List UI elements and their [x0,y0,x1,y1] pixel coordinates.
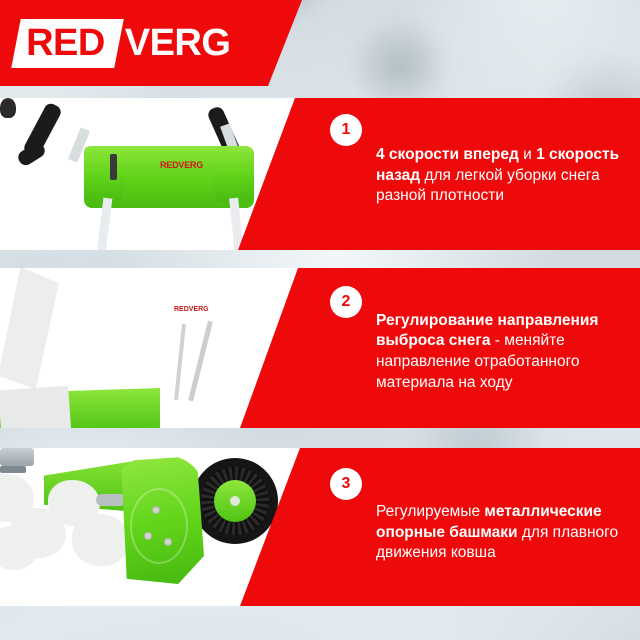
promo-banner: RED VERG REDVERG 1 [0,0,640,640]
logo-text-verg: VERG [125,24,231,63]
feature-mid-1: и [519,146,536,163]
feature-badge-3: 3 [330,468,362,500]
feature-description-1: 4 скорости вперед и 1 скорость назад для… [376,145,630,207]
wheel-hub-cap [230,496,240,506]
auger-blade [72,514,130,566]
side-bolt [144,532,152,540]
feature-badge-2: 2 [330,286,362,318]
side-bolt [164,538,172,546]
left-lever-icon [16,140,48,168]
feature-badge-1: 1 [330,114,362,146]
logo-text-red: RED [26,24,105,62]
shift-switch-icon [110,154,117,180]
chute-base [0,386,72,428]
feature-description-2: Регулирование направления выброса снега … [376,311,630,393]
side-bolt [152,506,160,514]
feature-text-2: 2 Регулирование направления выброса снег… [330,272,630,432]
logo-red-box: RED [11,19,123,68]
feature-row-3: 3 Регулируемые металлические опорные баш… [0,448,640,606]
control-rod-a [188,321,213,402]
feature-bold-1a: 4 скорости вперед [376,146,519,163]
feature-text-1: 1 4 скорости вперед и 1 скорость назад д… [330,100,630,252]
feature-text-3: 3 Регулируемые металлические опорные баш… [330,454,630,612]
auger-axle [96,494,126,506]
photo-brand-label-1: REDVERG [160,160,203,170]
feature-mid-3: Регулируемые [376,503,484,520]
photo-brand-label-2: REDVERG [174,306,209,313]
feature-mid-2: - [491,332,505,349]
support-shoe [0,448,34,466]
side-plate-emboss [130,488,188,564]
feature-description-3: Регулируемые металлические опорные башма… [376,502,630,564]
feature-bold-2a: Регулирование направления выброса снега [376,312,598,350]
redverg-logo: RED VERG [16,20,230,66]
feature-row-2: REDVERG 2 Регулирование направления выбр… [0,268,640,428]
discharge-chute [0,268,60,390]
control-rod-b [174,324,186,400]
feature-row-1: REDVERG 1 4 скорости вперед и 1 скорость… [0,98,640,250]
control-knob-icon [0,98,16,118]
